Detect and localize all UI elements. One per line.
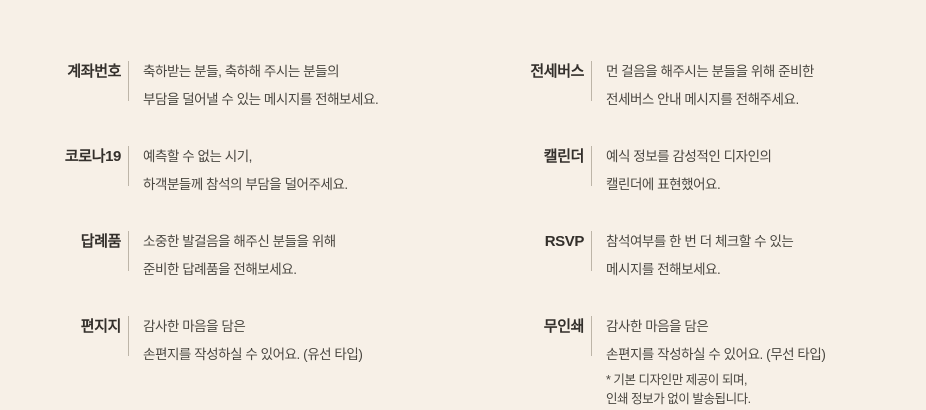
feature-label: 전세버스 — [463, 58, 584, 86]
feature-label: 코로나19 — [0, 143, 121, 171]
feature-description: 참석여부를 한 번 더 체크할 수 있는 메시지를 전해보세요. — [592, 228, 926, 284]
left-column: 계좌번호 축하받는 분들, 축하해 주시는 분들의 부담을 덜어낼 수 있는 메… — [0, 0, 463, 410]
note-body: * 기본 디자인만 제공이 되며, 인쇄 정보가 없이 발송됩니다. — [592, 371, 751, 409]
description-line: 캘린더에 표현했어요. — [606, 171, 926, 199]
description-line: 소중한 발걸음을 해주신 분들을 위해 — [143, 228, 463, 256]
feature-row: 계좌번호 축하받는 분들, 축하해 주시는 분들의 부담을 덜어낼 수 있는 메… — [0, 58, 463, 114]
feature-label: 무인쇄 — [463, 313, 584, 341]
feature-row: 답례품 소중한 발걸음을 해주신 분들을 위해 준비한 답례품을 전해보세요. — [0, 228, 463, 284]
description-line: 하객분들께 참석의 부담을 덜어주세요. — [143, 171, 463, 199]
description-line: 손편지를 작성하실 수 있어요. (무선 타입) — [606, 341, 926, 369]
feature-description: 감사한 마음을 담은 손편지를 작성하실 수 있어요. (유선 타입) — [129, 313, 463, 369]
feature-row: 캘린더 예식 정보를 감성적인 디자인의 캘린더에 표현했어요. — [463, 143, 926, 199]
feature-row: 코로나19 예측할 수 없는 시기, 하객분들께 참석의 부담을 덜어주세요. — [0, 143, 463, 199]
description-line: 예측할 수 없는 시기, — [143, 143, 463, 171]
feature-label: RSVP — [463, 228, 584, 256]
feature-label: 계좌번호 — [0, 58, 121, 86]
note-line: * 기본 디자인만 제공이 되며, — [606, 371, 751, 390]
description-line: 감사한 마음을 담은 — [606, 313, 926, 341]
feature-list: 계좌번호 축하받는 분들, 축하해 주시는 분들의 부담을 덜어낼 수 있는 메… — [0, 0, 926, 410]
feature-label: 편지지 — [0, 313, 121, 341]
feature-description: 소중한 발걸음을 해주신 분들을 위해 준비한 답례품을 전해보세요. — [129, 228, 463, 284]
description-line: 부담을 덜어낼 수 있는 메시지를 전해보세요. — [143, 86, 463, 114]
description-line: 축하받는 분들, 축하해 주시는 분들의 — [143, 58, 463, 86]
feature-row: 전세버스 먼 걸음을 해주시는 분들을 위해 준비한 전세버스 안내 메시지를 … — [463, 58, 926, 114]
description-line: 메시지를 전해보세요. — [606, 256, 926, 284]
feature-description: 예측할 수 없는 시기, 하객분들께 참석의 부담을 덜어주세요. — [129, 143, 463, 199]
description-line: 먼 걸음을 해주시는 분들을 위해 준비한 — [606, 58, 926, 86]
description-line: 예식 정보를 감성적인 디자인의 — [606, 143, 926, 171]
feature-description: 먼 걸음을 해주시는 분들을 위해 준비한 전세버스 안내 메시지를 전해주세요… — [592, 58, 926, 114]
feature-label: 답례품 — [0, 228, 121, 256]
feature-label: 캘린더 — [463, 143, 584, 171]
note-line: 인쇄 정보가 없이 발송됩니다. — [606, 390, 751, 409]
description-line: 감사한 마음을 담은 — [143, 313, 463, 341]
feature-row: 무인쇄 감사한 마음을 담은 손편지를 작성하실 수 있어요. (무선 타입) — [463, 313, 926, 369]
feature-description: 감사한 마음을 담은 손편지를 작성하실 수 있어요. (무선 타입) — [592, 313, 926, 369]
description-line: 전세버스 안내 메시지를 전해주세요. — [606, 86, 926, 114]
right-column: 전세버스 먼 걸음을 해주시는 분들을 위해 준비한 전세버스 안내 메시지를 … — [463, 0, 926, 410]
description-line: 참석여부를 한 번 더 체크할 수 있는 — [606, 228, 926, 256]
feature-note: * 기본 디자인만 제공이 되며, 인쇄 정보가 없이 발송됩니다. — [463, 369, 926, 409]
feature-row: 편지지 감사한 마음을 담은 손편지를 작성하실 수 있어요. (유선 타입) — [0, 313, 463, 369]
feature-row: RSVP 참석여부를 한 번 더 체크할 수 있는 메시지를 전해보세요. — [463, 228, 926, 284]
feature-description: 예식 정보를 감성적인 디자인의 캘린더에 표현했어요. — [592, 143, 926, 199]
feature-description: 축하받는 분들, 축하해 주시는 분들의 부담을 덜어낼 수 있는 메시지를 전… — [129, 58, 463, 114]
description-line: 손편지를 작성하실 수 있어요. (유선 타입) — [143, 341, 463, 369]
description-line: 준비한 답례품을 전해보세요. — [143, 256, 463, 284]
